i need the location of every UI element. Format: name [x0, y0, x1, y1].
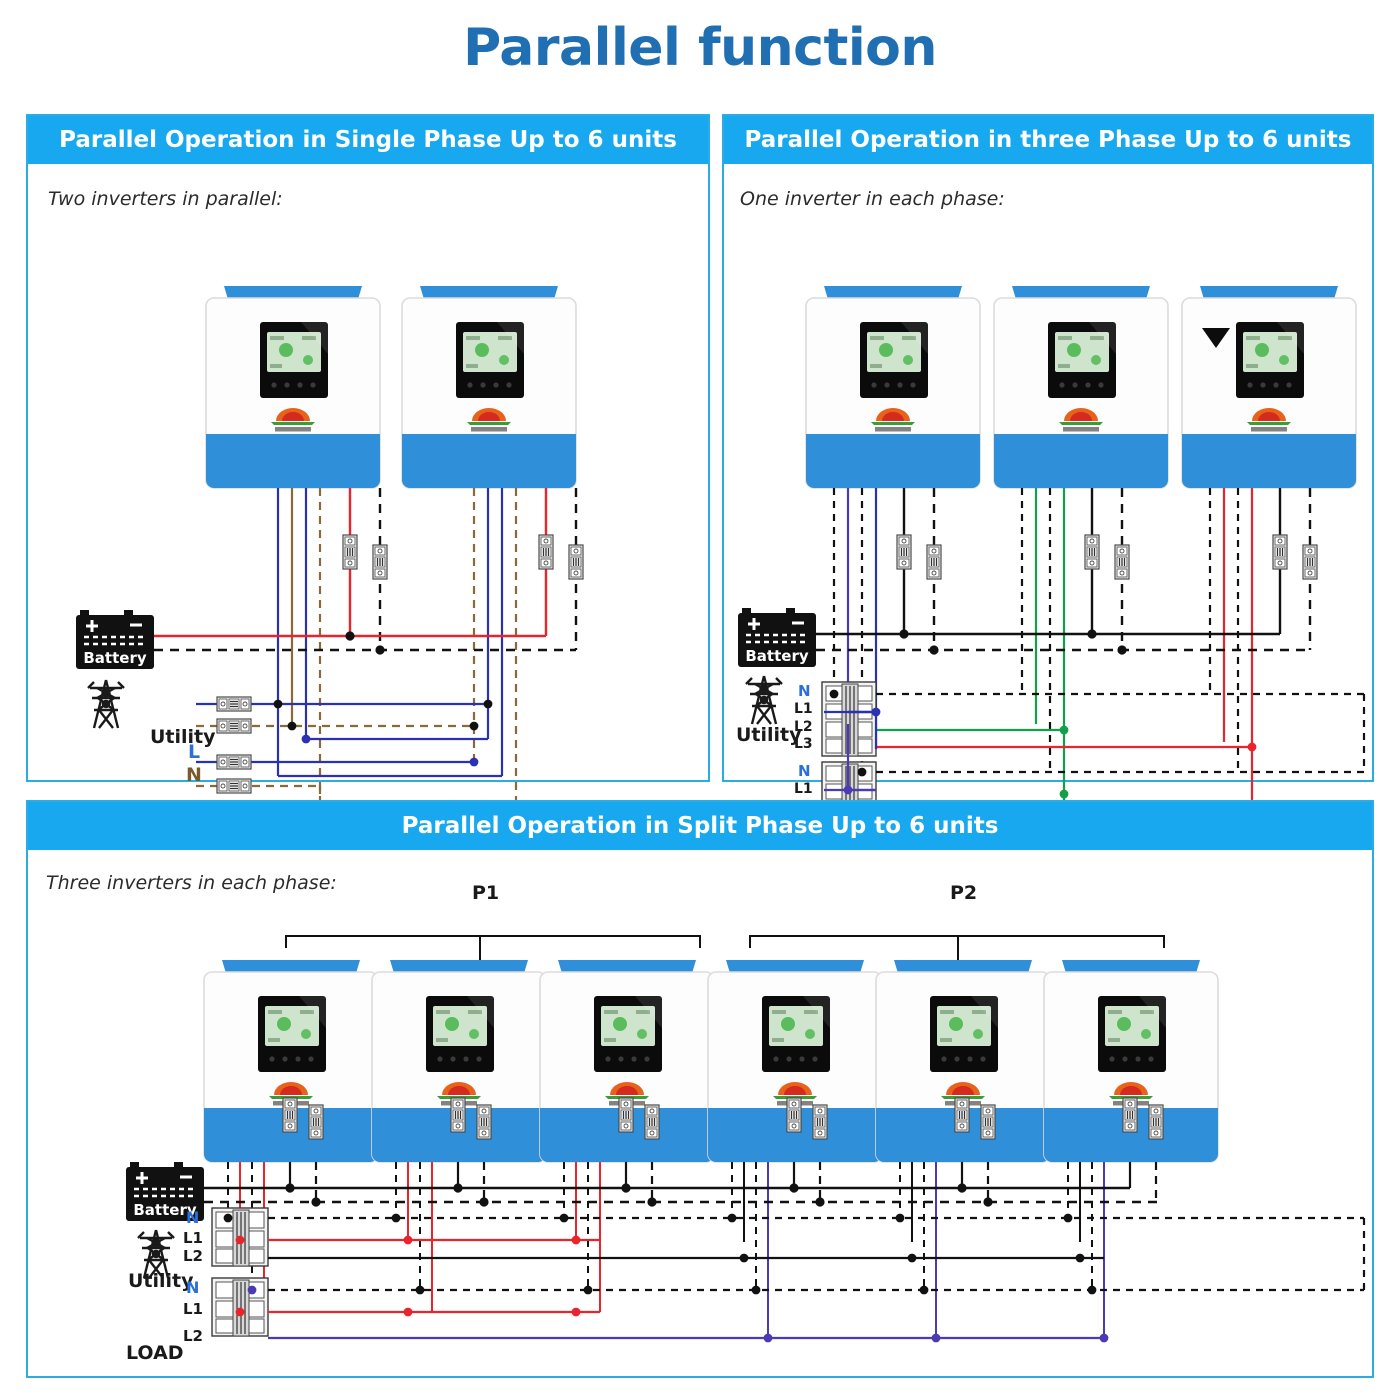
- panel-single-phase: Parallel Operation in Single Phase Up to…: [26, 114, 710, 782]
- circuit-breaker: [451, 1098, 465, 1132]
- battery-icon: [76, 610, 154, 669]
- source-label-utility: Utility: [150, 726, 216, 748]
- junction-dot: [1060, 790, 1069, 799]
- source-label-load: LOAD: [126, 1342, 184, 1364]
- junction-dot: [345, 631, 354, 640]
- circuit-breaker: [645, 1105, 659, 1139]
- circuit-breaker: [217, 779, 251, 793]
- junction-dot: [375, 645, 384, 654]
- terminal-label-utility-l2: L2: [794, 719, 813, 735]
- diagram-page: Parallel function Parallel Operation in …: [0, 0, 1400, 1400]
- junction-dot: [929, 645, 938, 654]
- terminal-block-symbol: [212, 1278, 268, 1336]
- circuit-breaker: [569, 545, 583, 579]
- junction-dot: [224, 1214, 1085, 1263]
- terminal-label-load-n: N: [186, 1278, 199, 1297]
- parallel-group-bracket-p1: [286, 936, 700, 962]
- group-label-p1: P1: [472, 882, 499, 904]
- terminal-label-utility-l1: L1: [794, 701, 813, 717]
- three-phase-schematic: [724, 164, 1376, 784]
- panel-split-phase-header: Parallel Operation in Split Phase Up to …: [28, 802, 1372, 850]
- panel-split-phase: Parallel Operation in Split Phase Up to …: [26, 800, 1374, 1378]
- circuit-breaker: [309, 1105, 323, 1139]
- junction-dot: [899, 629, 908, 638]
- junction-dot: [872, 708, 881, 717]
- junction-dot: [1060, 726, 1069, 735]
- page-title: Parallel function: [0, 18, 1400, 78]
- battery-icon: [738, 608, 816, 667]
- junction-dot: [844, 786, 853, 795]
- inverter-unit: [994, 286, 1168, 488]
- circuit-breaker: [539, 535, 553, 569]
- circuit-breaker: [1123, 1098, 1137, 1132]
- terminal-label-load-l2: L2: [183, 1327, 203, 1345]
- circuit-breaker: [787, 1098, 801, 1132]
- junction-dot: [484, 700, 493, 709]
- group-label-p2: P2: [950, 882, 977, 904]
- circuit-breaker: [927, 545, 941, 579]
- circuit-breaker: [1115, 545, 1129, 579]
- circuit-breaker: [217, 719, 251, 733]
- transmission-tower-icon: [88, 680, 124, 728]
- circuit-breaker: [343, 535, 357, 569]
- circuit-breaker: [897, 535, 911, 569]
- terminal-label-utility-l1: L1: [183, 1229, 203, 1247]
- panel-split-phase-body: Three inverters in each phase:: [28, 850, 1372, 1376]
- junction-dot: [470, 758, 479, 767]
- terminal-label-utility-l3: L3: [794, 736, 813, 752]
- inverter-unit: [402, 286, 576, 488]
- junction-dot: [236, 1286, 1109, 1343]
- terminal-label-utility-l: L: [188, 741, 200, 763]
- circuit-breaker: [981, 1105, 995, 1139]
- circuit-breaker: [1273, 535, 1287, 569]
- source-label-utility: Utility: [736, 724, 802, 746]
- circuit-breaker: [955, 1098, 969, 1132]
- terminal-label-load-l1: L1: [794, 781, 813, 797]
- terminal-label-utility-l2: L2: [183, 1247, 203, 1265]
- terminal-label-load-n: N: [798, 762, 811, 780]
- terminal-label-utility-n: N: [186, 1208, 199, 1227]
- panel-single-phase-header: Parallel Operation in Single Phase Up to…: [28, 116, 708, 164]
- circuit-breaker: [477, 1105, 491, 1139]
- split-phase-schematic: [28, 850, 1376, 1380]
- transmission-tower-icon: [746, 676, 782, 724]
- circuit-breaker: [1149, 1105, 1163, 1139]
- junction-dot: [470, 722, 479, 731]
- junction-dot: [302, 735, 311, 744]
- junction-dot: [1087, 629, 1096, 638]
- junction-dot: [830, 690, 839, 699]
- junction-dot: [858, 768, 867, 777]
- circuit-breaker: [813, 1105, 827, 1139]
- inverter-unit: [1182, 286, 1356, 488]
- panel-single-phase-body: Two inverters in parallel:: [28, 164, 708, 780]
- junction-dot: [288, 722, 297, 731]
- source-label-utility: Utility: [128, 1270, 194, 1292]
- junction-dot: [1117, 645, 1126, 654]
- junction-dot: [274, 700, 283, 709]
- terminal-label-load-l1: L1: [183, 1300, 203, 1318]
- inverter-unit: [206, 286, 380, 488]
- circuit-breaker: [1303, 545, 1317, 579]
- circuit-breaker: [283, 1098, 297, 1132]
- junction-dot: [1248, 743, 1257, 752]
- panel-three-phase-body: One inverter in each phase:: [724, 164, 1372, 780]
- circuit-breaker: [373, 545, 387, 579]
- circuit-breaker: [1085, 535, 1099, 569]
- circuit-breaker: [217, 755, 251, 769]
- panel-three-phase: Parallel Operation in three Phase Up to …: [722, 114, 1374, 782]
- circuit-breaker: [619, 1098, 633, 1132]
- inverter-unit: [806, 286, 980, 488]
- circuit-breaker: [217, 697, 251, 711]
- single-phase-schematic: Battery: [28, 164, 712, 784]
- panel-three-phase-header: Parallel Operation in three Phase Up to …: [724, 116, 1372, 164]
- parallel-group-bracket-p2: [750, 936, 1164, 962]
- terminal-label-utility-n: N: [798, 682, 811, 700]
- terminal-label-utility-n: N: [186, 764, 202, 786]
